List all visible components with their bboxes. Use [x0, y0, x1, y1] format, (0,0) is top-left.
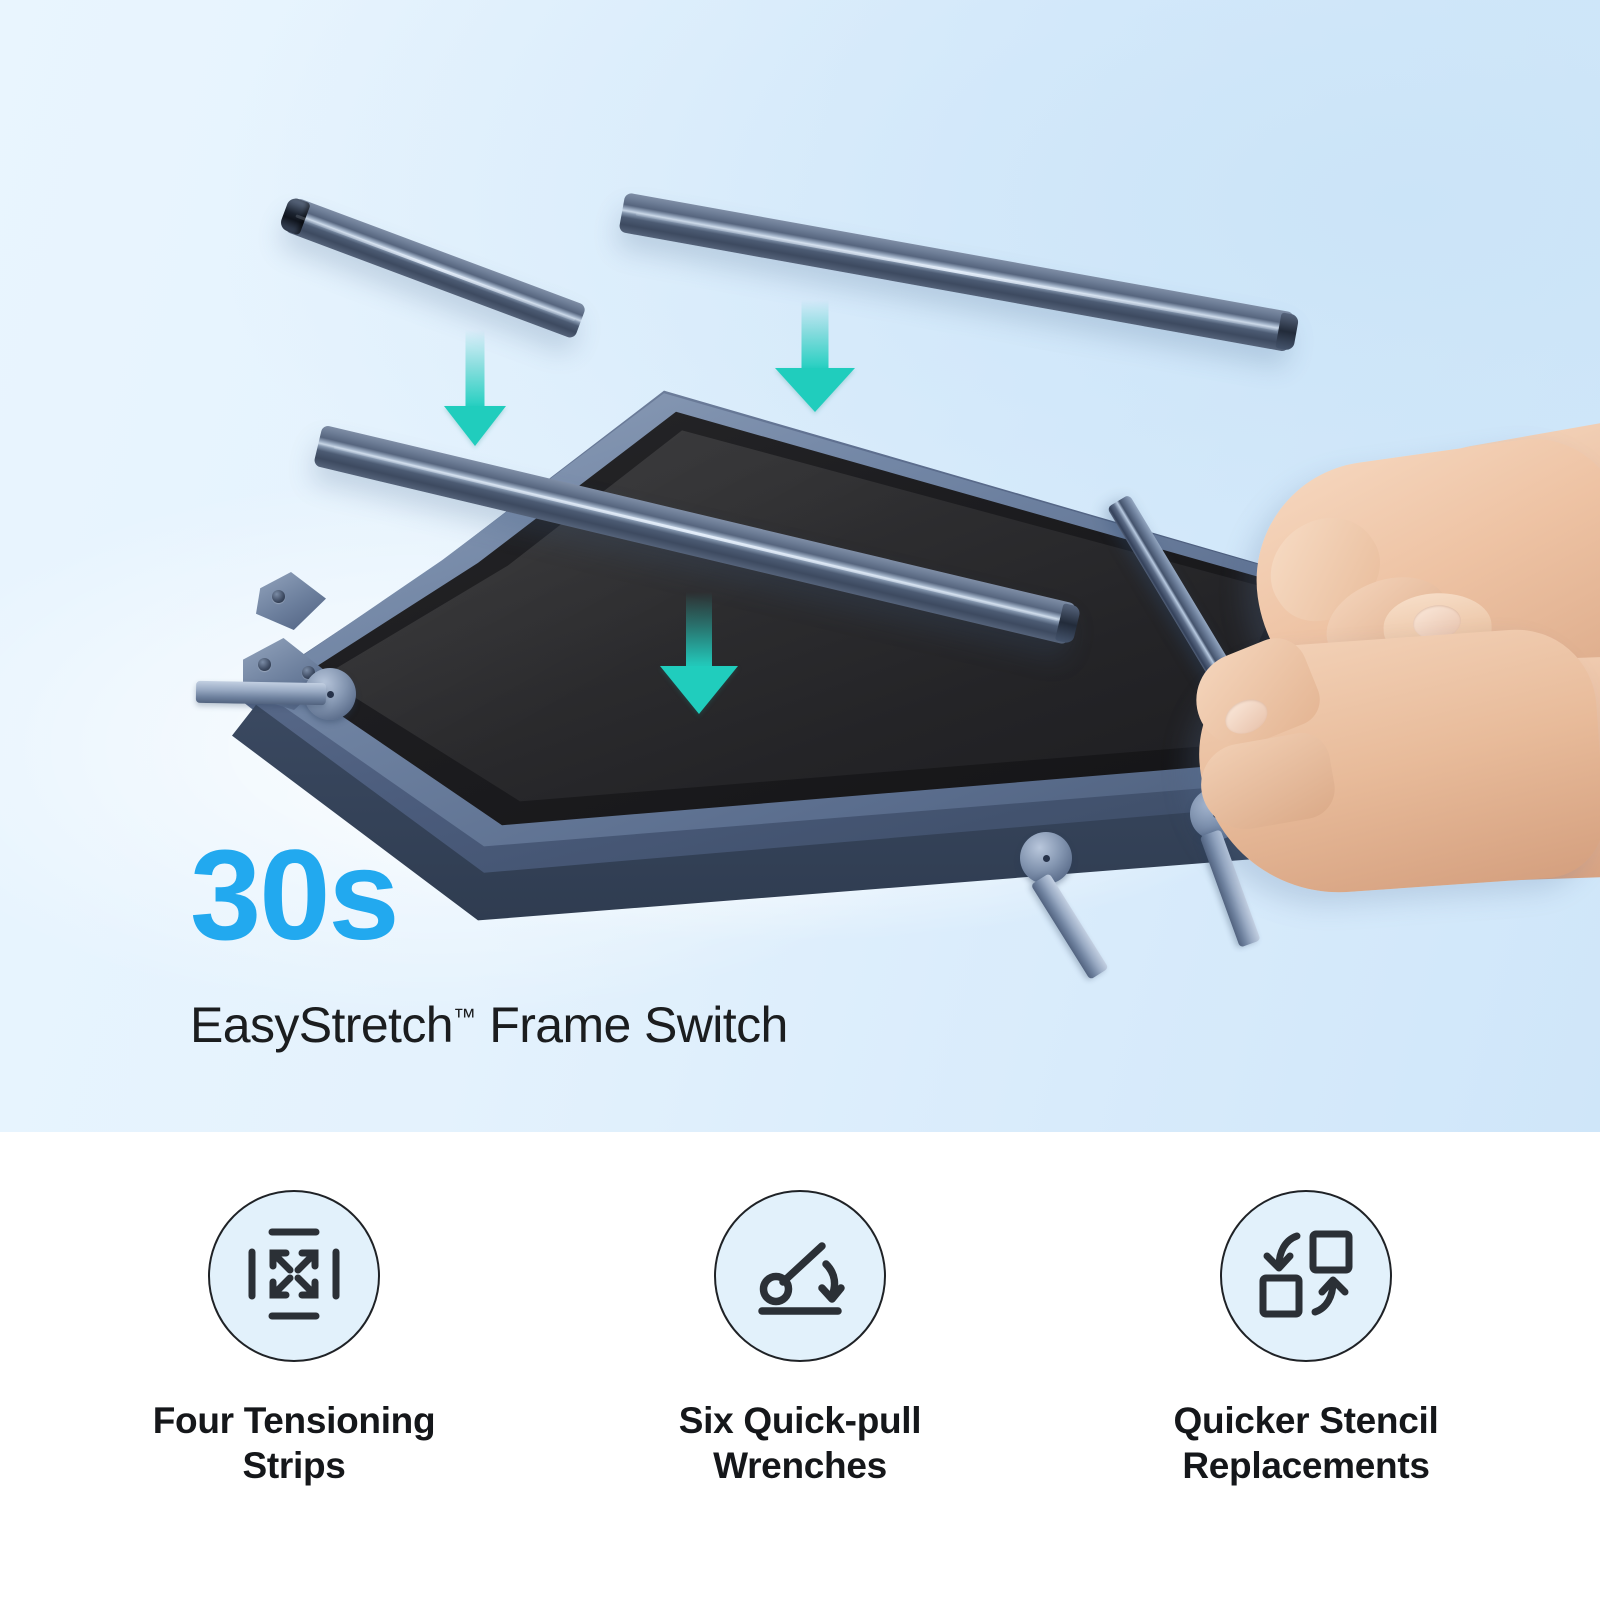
- lever-arm: [196, 681, 326, 705]
- trademark-symbol: ™: [453, 1003, 476, 1029]
- motion-arrow-mesh: [660, 592, 738, 714]
- lever-wrench-pull-icon: [750, 1226, 850, 1327]
- arrow-shaft: [466, 330, 485, 408]
- feature-item: Four Tensioning Strips: [41, 1190, 547, 1488]
- feature-item: Six Quick-pull Wrenches: [547, 1190, 1053, 1488]
- headline-subtitle: EasyStretch™ Frame Switch: [190, 996, 788, 1054]
- hand-lower: [1192, 624, 1600, 901]
- feature-icon-circle: [208, 1190, 380, 1362]
- bracket-bolt: [258, 658, 271, 671]
- bracket-bolt: [272, 590, 285, 603]
- feature-label-line2: Replacements: [1182, 1445, 1429, 1486]
- arrow-head: [775, 368, 855, 412]
- feature-label-line1: Quicker Stencil: [1174, 1400, 1439, 1441]
- hero-section: 30s EasyStretch™ Frame Switch: [0, 0, 1600, 1132]
- feature-item: Quicker Stencil Replacements: [1053, 1190, 1559, 1488]
- features-section: Four Tensioning Strips: [0, 1132, 1600, 1600]
- feature-label-line1: Six Quick-pull: [679, 1400, 922, 1441]
- feature-icon-circle: [714, 1190, 886, 1362]
- expand-frame-corners-icon: [246, 1226, 342, 1327]
- feature-label: Six Quick-pull Wrenches: [679, 1398, 922, 1488]
- corner-bracket-left-upper: [256, 572, 326, 630]
- feature-label-line2: Wrenches: [713, 1445, 887, 1486]
- arrow-head: [444, 406, 506, 446]
- swap-squares-icon: [1257, 1226, 1355, 1327]
- hero-text-block: 30s EasyStretch™ Frame Switch: [190, 832, 788, 1054]
- arrow-head: [660, 666, 738, 714]
- feature-icon-circle: [1220, 1190, 1392, 1362]
- product-feature-page: 30s EasyStretch™ Frame Switch: [0, 0, 1600, 1600]
- subtitle-rest: Frame Switch: [476, 997, 788, 1053]
- motion-arrow-left: [445, 330, 505, 446]
- arrow-shaft: [802, 300, 829, 370]
- motion-arrow-center: [775, 300, 855, 412]
- feature-label-line1: Four Tensioning: [153, 1400, 436, 1441]
- headline-metric: 30s: [190, 832, 788, 960]
- finger: [1195, 729, 1340, 837]
- feature-label: Quicker Stencil Replacements: [1174, 1398, 1439, 1488]
- arrow-shaft: [686, 592, 712, 668]
- subtitle-brand: EasyStretch: [190, 997, 453, 1053]
- feature-label-line2: Strips: [242, 1445, 345, 1486]
- feature-label: Four Tensioning Strips: [153, 1398, 436, 1488]
